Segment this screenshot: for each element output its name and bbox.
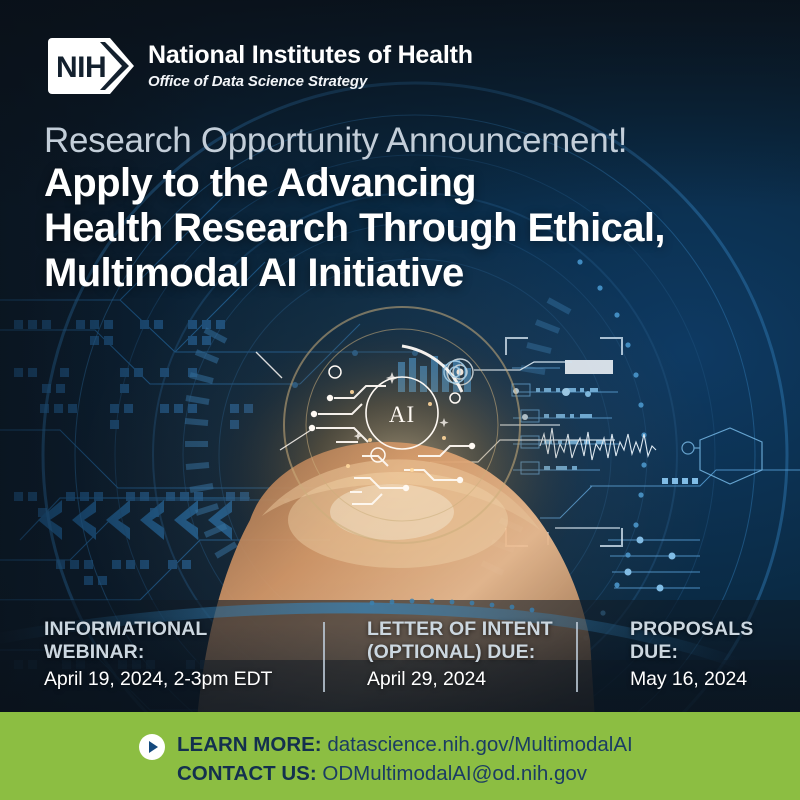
headline-line-1: Apply to the Advancing [44, 161, 774, 206]
contact-us-label: CONTACT US: [177, 762, 317, 785]
learn-more-label: LEARN MORE: [177, 733, 322, 756]
nih-chevron-logo-icon: NIH [48, 38, 134, 94]
org-name: National Institutes of Health [148, 43, 473, 68]
contact-us-line[interactable]: CONTACT US: ODMultimodalAI@od.nih.gov [177, 761, 633, 787]
org-subtitle: Office of Data Science Strategy [148, 74, 473, 89]
play-circle-icon [139, 734, 165, 760]
nih-logo-lockup: NIH National Institutes of Health Office… [48, 38, 473, 94]
learn-more-url[interactable]: datascience.nih.gov/MultimodalAI [327, 733, 632, 756]
date-label-line-2: WEBINAR: [44, 641, 144, 663]
key-dates-row: INFORMATIONAL WEBINAR: April 19, 2024, 2… [44, 618, 760, 698]
svg-text:NIH: NIH [56, 51, 106, 84]
org-text-block: National Institutes of Health Office of … [148, 43, 473, 89]
date-label-line-1: PROPOSALS [630, 618, 753, 640]
date-label: LETTER OF INTENT (OPTIONAL) DUE: [367, 618, 576, 664]
column-divider [323, 622, 325, 692]
date-label: INFORMATIONAL WEBINAR: [44, 618, 323, 664]
date-col-webinar: INFORMATIONAL WEBINAR: April 19, 2024, 2… [44, 618, 323, 691]
date-label-line-2: (OPTIONAL) DUE: [367, 641, 535, 663]
learn-more-line[interactable]: LEARN MORE: datascience.nih.gov/Multimod… [177, 732, 633, 758]
footer-content: LEARN MORE: datascience.nih.gov/Multimod… [139, 732, 633, 786]
page-title: Apply to the Advancing Health Research T… [44, 161, 774, 295]
date-col-proposals: PROPOSALS DUE: May 16, 2024 [576, 618, 760, 691]
date-value: April 19, 2024, 2-3pm EDT [44, 668, 323, 691]
date-label-line-2: DUE: [630, 641, 678, 663]
eyebrow-text: Research Opportunity Announcement! [44, 121, 627, 161]
headline-line-3: Multimodal AI Initiative [44, 251, 774, 296]
footer-bar: LEARN MORE: datascience.nih.gov/Multimod… [0, 712, 800, 800]
date-label-line-1: INFORMATIONAL [44, 618, 207, 640]
date-value: May 16, 2024 [630, 668, 760, 691]
date-value: April 29, 2024 [367, 668, 576, 691]
column-divider [576, 622, 578, 692]
footer-links: LEARN MORE: datascience.nih.gov/Multimod… [177, 732, 633, 786]
headline-line-2: Health Research Through Ethical, [44, 206, 774, 251]
date-col-letter-of-intent: LETTER OF INTENT (OPTIONAL) DUE: April 2… [323, 618, 576, 691]
nih-announcement-poster: AI [0, 0, 800, 800]
date-label-line-1: LETTER OF INTENT [367, 618, 553, 640]
date-label: PROPOSALS DUE: [630, 618, 760, 664]
contact-us-email[interactable]: ODMultimodalAI@od.nih.gov [322, 762, 587, 785]
